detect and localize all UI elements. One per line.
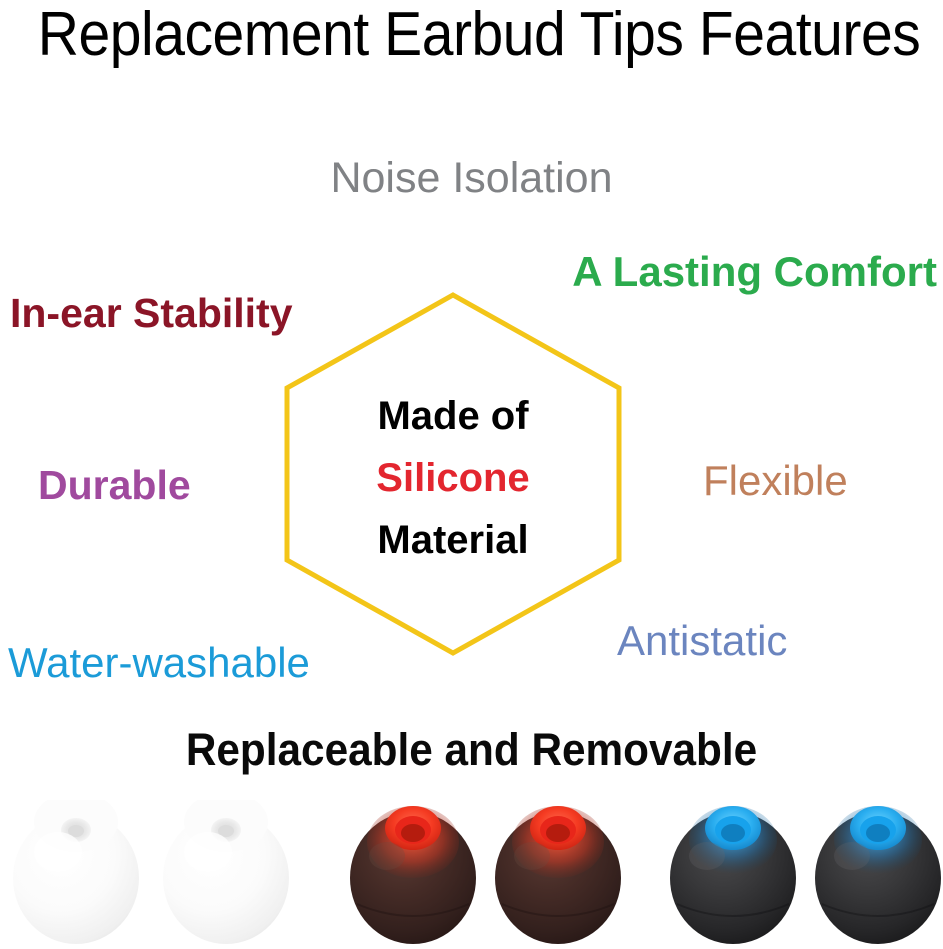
center-line-material: Material	[287, 509, 619, 571]
blue-core-earbud-tip-2	[810, 800, 943, 946]
earbud-tips-infographic: Replacement Earbud Tips Features Noise I…	[0, 0, 943, 949]
center-line-silicone: Silicone	[287, 447, 619, 509]
feature-label-noise-isolation: Noise Isolation	[0, 155, 943, 202]
red-core-earbud-tip-1	[345, 800, 481, 946]
page-title: Replacement Earbud Tips Features	[38, 2, 906, 68]
red-core-earbud-tip-2	[490, 800, 626, 946]
white-earbud-tip-2	[158, 800, 294, 946]
center-line-made-of: Made of	[287, 385, 619, 447]
white-earbud-tip-1	[8, 800, 144, 946]
hexagon-center-text: Made of Silicone Material	[287, 385, 619, 571]
bottom-heading: Replaceable and Removable	[28, 724, 914, 776]
feature-label-flexible: Flexible	[703, 458, 848, 504]
feature-label-antistatic: Antistatic	[617, 618, 787, 664]
feature-label-water-washable: Water-washable	[8, 640, 310, 686]
earbud-tips-row	[0, 798, 943, 949]
feature-label-in-ear-stability: In-ear Stability	[10, 291, 293, 336]
blue-core-earbud-tip-1	[665, 800, 801, 946]
feature-label-durable: Durable	[38, 463, 191, 508]
